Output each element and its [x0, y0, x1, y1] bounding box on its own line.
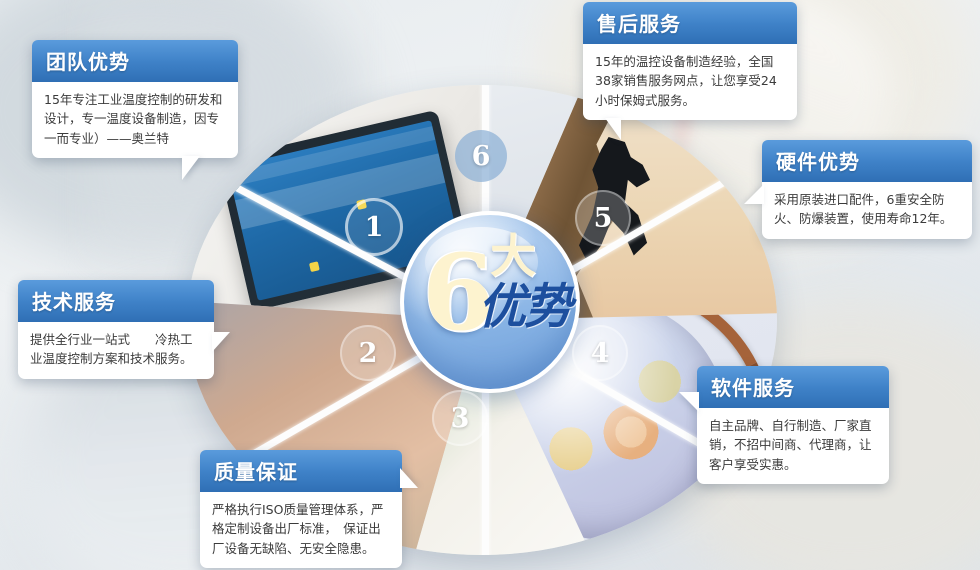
center-subtitle: 优势: [478, 281, 570, 333]
marker-3[interactable]: 3: [432, 390, 488, 446]
callout-software-body: 自主品牌、自行制造、厂家直销，不招中间商、代理商，让客户享受实惠。: [697, 408, 889, 484]
callout-hardware-title: 硬件优势: [762, 140, 972, 182]
callout-technical-service[interactable]: 技术服务 提供全行业一站式 冷热工业温度控制方案和技术服务。: [18, 280, 214, 379]
callout-hardware-body: 采用原装进口配件，6重安全防火、防爆装置，使用寿命12年。: [762, 182, 972, 239]
callout-quality-body: 严格执行ISO质量管理体系，严格定制设备出厂标准， 保证出厂设备无缺陷、无安全隐…: [200, 492, 402, 568]
callout-technical-title: 技术服务: [18, 280, 214, 322]
callout-after-sales-title: 售后服务: [583, 2, 797, 44]
callout-after-sales-body: 15年的温控设备制造经验，全国38家销售服务网点，让您享受24小时保姆式服务。: [583, 44, 797, 120]
callout-team-advantage[interactable]: 团队优势 15年专注工业温度控制的研发和设计，专一温度设备制造，因专一而专业）—…: [32, 40, 238, 158]
poster-canvas: 6 大 优势 1 2 3 4 5 6 团队优势 15年专注工业温度控制的研发和设…: [0, 0, 980, 570]
callout-hardware-advantage[interactable]: 硬件优势 采用原装进口配件，6重安全防火、防爆装置，使用寿命12年。: [762, 140, 972, 239]
callout-software-title: 软件服务: [697, 366, 889, 408]
callout-after-sales[interactable]: 售后服务 15年的温控设备制造经验，全国38家销售服务网点，让您享受24小时保姆…: [583, 2, 797, 120]
callout-quality-assurance[interactable]: 质量保证 严格执行ISO质量管理体系，严格定制设备出厂标准， 保证出厂设备无缺陷…: [200, 450, 402, 568]
callout-technical-tail: [212, 332, 230, 352]
callout-team-body: 15年专注工业温度控制的研发和设计，专一温度设备制造，因专一而专业）——奥兰特: [32, 82, 238, 158]
callout-hardware-tail: [744, 184, 764, 204]
callout-technical-body: 提供全行业一站式 冷热工业温度控制方案和技术服务。: [18, 322, 214, 379]
marker-4[interactable]: 4: [572, 325, 628, 381]
marker-1[interactable]: 1: [345, 198, 403, 256]
callout-software-service[interactable]: 软件服务 自主品牌、自行制造、厂家直销，不招中间商、代理商，让客户享受实惠。: [697, 366, 889, 484]
callout-quality-tail: [400, 468, 418, 488]
marker-5[interactable]: 5: [575, 190, 631, 246]
marker-6[interactable]: 6: [455, 130, 507, 182]
callout-quality-title: 质量保证: [200, 450, 402, 492]
center-badge: 6 大 优势: [400, 211, 580, 393]
callout-after-sales-tail: [605, 118, 621, 140]
callout-team-tail: [182, 156, 200, 180]
callout-software-tail: [679, 392, 699, 412]
callout-team-title: 团队优势: [32, 40, 238, 82]
marker-2[interactable]: 2: [340, 325, 396, 381]
center-big-char: 大: [490, 233, 536, 279]
